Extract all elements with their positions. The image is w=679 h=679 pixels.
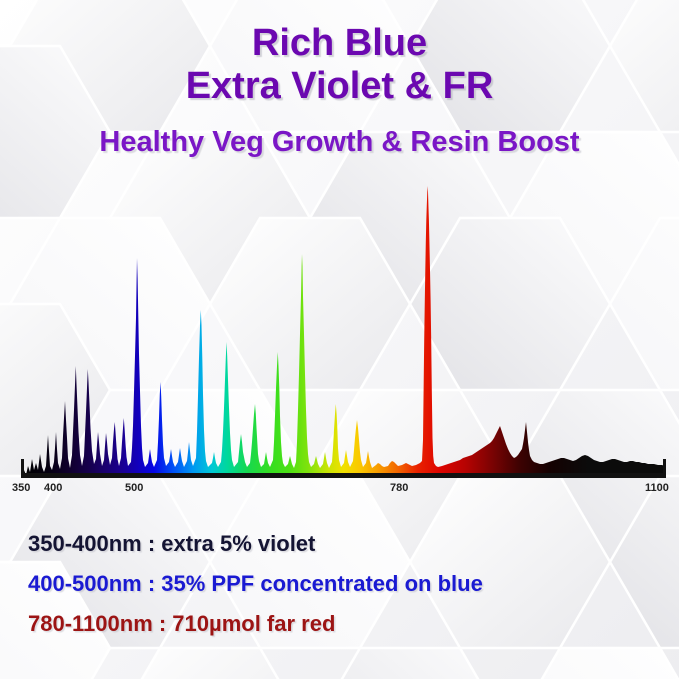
spectrum-infographic: Rich Blue Extra Violet & FR Healthy Veg … — [0, 0, 679, 679]
spectrum-plot — [0, 170, 679, 490]
axis-tick-400: 400 — [44, 482, 62, 494]
y-axis-tick-left — [21, 459, 24, 478]
x-axis-baseline — [22, 473, 665, 478]
y-axis-tick-right — [663, 459, 666, 478]
headline-line-1: Rich Blue — [0, 22, 679, 64]
axis-tick-500: 500 — [125, 482, 143, 494]
spec-line-violet: 350-400nm : extra 5% violet — [28, 524, 483, 564]
headline-block: Rich Blue Extra Violet & FR — [0, 22, 679, 108]
headline-subtitle: Healthy Veg Growth & Resin Boost — [0, 126, 679, 159]
x-axis-tick-labels: 350 400 500 780 1100 — [0, 482, 679, 502]
spec-line-blue: 400-500nm : 35% PPF concentrated on blue — [28, 564, 483, 604]
axis-tick-350: 350 — [12, 482, 30, 494]
spec-line-far-red: 780-1100nm : 710µmol far red — [28, 604, 483, 644]
spectrum-curve — [22, 186, 665, 477]
spec-list: 350-400nm : extra 5% violet 400-500nm : … — [28, 524, 483, 644]
spectrum-chart — [0, 170, 679, 490]
headline-line-2: Extra Violet & FR — [0, 64, 679, 108]
axis-tick-1100: 1100 — [645, 482, 669, 494]
axis-tick-780: 780 — [390, 482, 408, 494]
